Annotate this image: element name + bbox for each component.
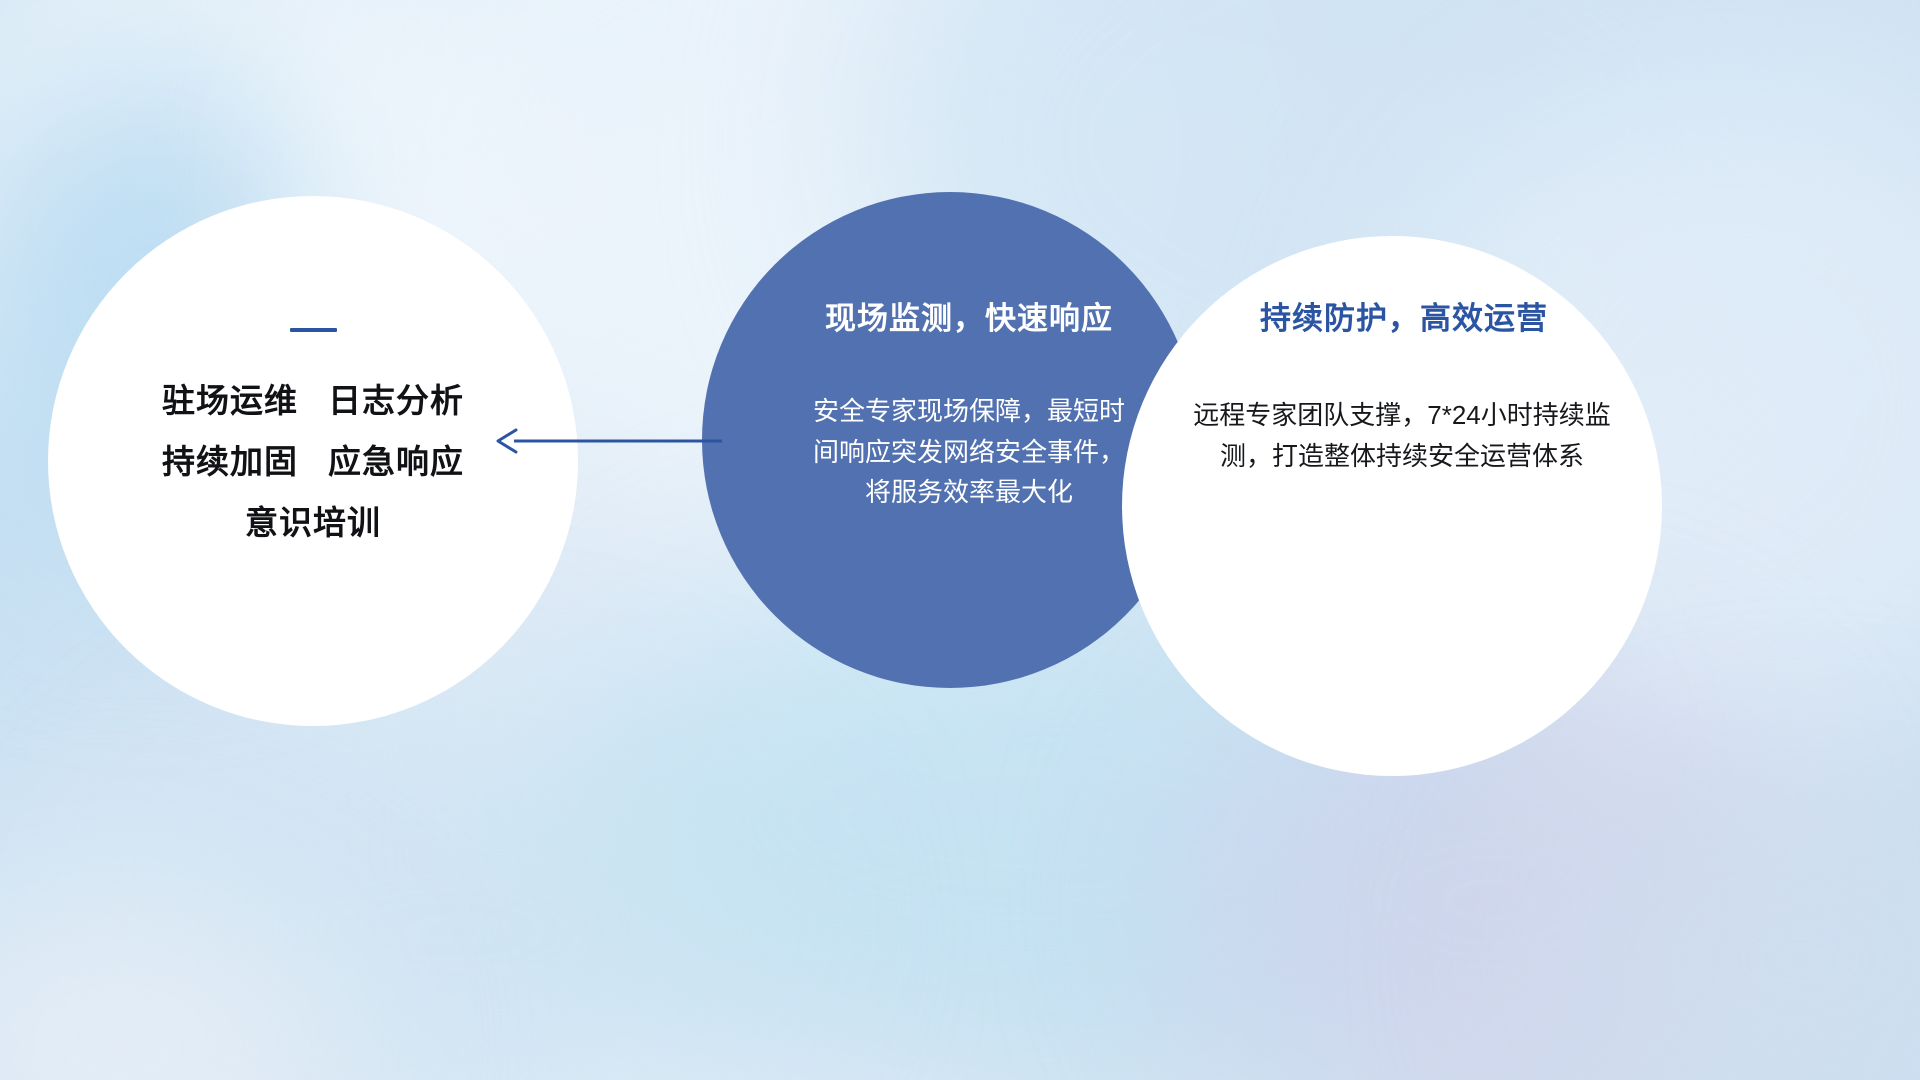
- middle-circle-shape: [702, 192, 1198, 688]
- slide-canvas: 驻场运维 日志分析 持续加固 应急响应 意识培训 现场监测，快速响应 安全专家现…: [0, 0, 1920, 1080]
- left-circle-shape: [48, 196, 578, 726]
- right-circle-shape: [1122, 236, 1662, 776]
- flow-arrow-icon: [492, 424, 722, 458]
